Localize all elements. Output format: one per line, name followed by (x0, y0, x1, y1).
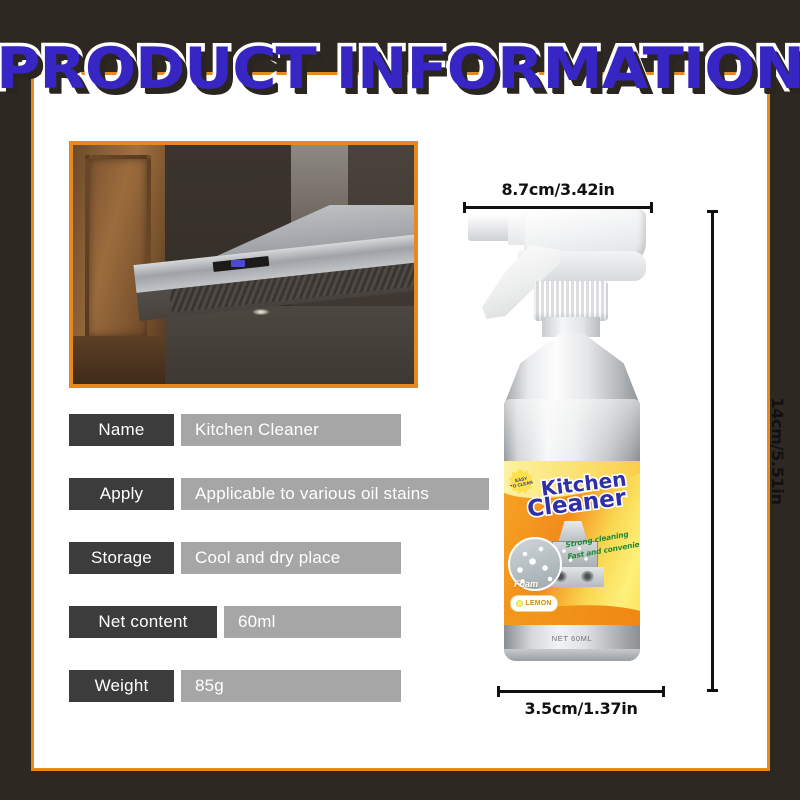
spec-value-name: Kitchen Cleaner (181, 414, 401, 446)
bottle-ribbed-collar (534, 281, 608, 321)
photo-backsplash (165, 306, 414, 384)
dimension-height-label: 14cm/5.51in (768, 397, 787, 504)
dimension-height-right: 14cm/5.51in (700, 210, 760, 692)
spec-value-weight: 85g (181, 670, 401, 702)
dimension-width-top: 8.7cm/3.42in (463, 180, 653, 212)
bottle-metallic-sheen (504, 399, 640, 469)
spec-value-apply: Applicable to various oil stains (181, 478, 489, 510)
lemon-badge-text: LEMON (525, 600, 551, 607)
photo-hood-light (253, 309, 269, 315)
photo-cabinet-base (73, 336, 165, 388)
spec-value-storage: Cool and dry place (181, 542, 401, 574)
lemon-scent-badge: LEMON (510, 595, 558, 612)
bottle-body: EASY TO CLEAN Kitchen Cleaner Strong cle… (504, 399, 640, 661)
table-row: Apply Applicable to various oil stains (69, 478, 499, 510)
dimension-width-top-line (463, 202, 653, 212)
dimension-width-top-label: 8.7cm/3.42in (463, 180, 653, 199)
dimension-height-line (707, 210, 718, 692)
dimension-width-bottom-label: 3.5cm/1.37in (497, 699, 665, 718)
spec-label-name: Name (69, 414, 174, 446)
label-product-title: Kitchen Cleaner (524, 468, 640, 521)
label-burner-right (581, 571, 594, 582)
bottle-net-volume-text: NET 60ML (504, 634, 640, 643)
spec-label-apply: Apply (69, 478, 174, 510)
label-foam-text: Foam (514, 579, 538, 589)
spec-label-storage: Storage (69, 542, 174, 574)
dimension-cap-left (497, 686, 500, 697)
dimension-cap-top (707, 210, 718, 213)
dimension-cap-right (650, 202, 653, 213)
spec-value-net-content: 60ml (224, 606, 401, 638)
trigger-sprayer-head (456, 199, 646, 289)
lemon-icon (516, 600, 523, 607)
dimension-cap-left (463, 202, 466, 213)
product-information-page: PRODUCT INFORMATION Name Kitchen Cleaner… (0, 0, 800, 800)
table-row: Storage Cool and dry place (69, 542, 499, 574)
bottle-label: EASY TO CLEAN Kitchen Cleaner Strong cle… (504, 461, 640, 631)
spec-label-net-content: Net content (69, 606, 217, 638)
table-row: Name Kitchen Cleaner (69, 414, 499, 446)
dimension-width-bottom-line (497, 686, 665, 696)
dimension-cap-bottom (707, 689, 718, 692)
dimension-width-bottom: 3.5cm/1.37in (497, 686, 665, 718)
table-row: Net content 60ml (69, 606, 499, 638)
spec-label-weight: Weight (69, 670, 174, 702)
photo-hood-display (231, 260, 245, 267)
table-row: Weight 85g (69, 670, 499, 702)
kitchen-range-hood-photo (69, 141, 418, 388)
dimension-cap-right (662, 686, 665, 697)
bottle-bottom-ring (504, 649, 640, 661)
spec-table: Name Kitchen Cleaner Apply Applicable to… (69, 414, 499, 734)
bottle-shoulder (504, 333, 640, 405)
